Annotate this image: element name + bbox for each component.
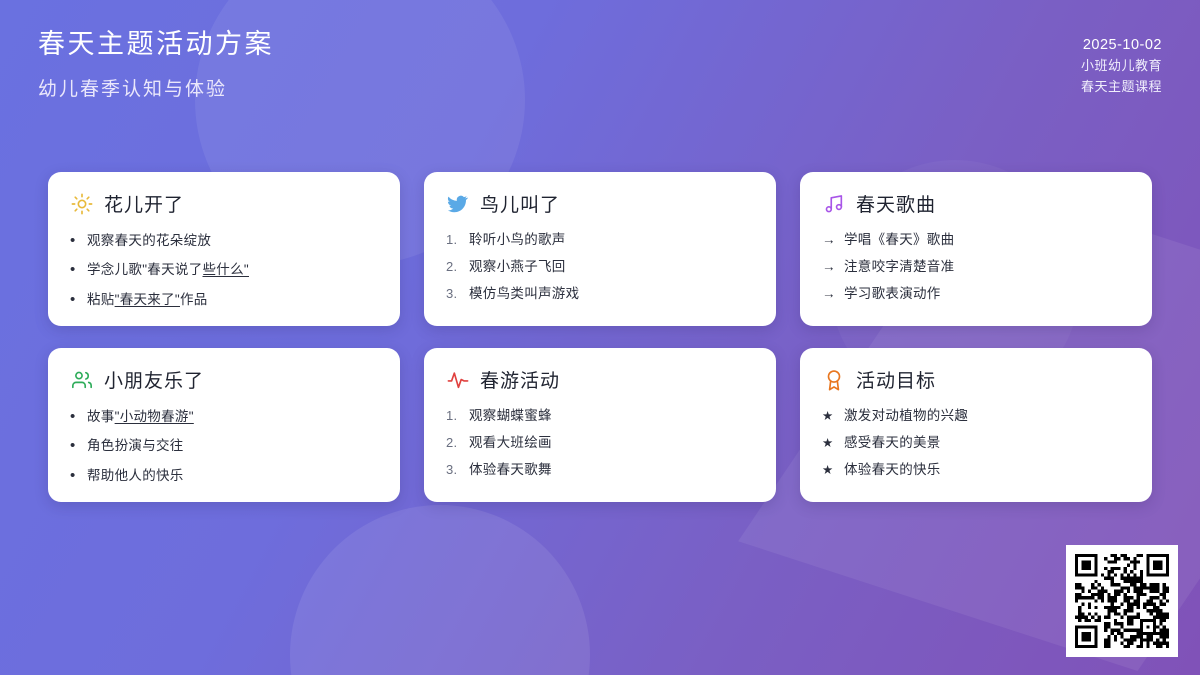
list-item-text: 感受春天的美景 [844, 434, 941, 452]
header-meta: 2025-10-02 小班幼儿教育 春天主题课程 [1081, 28, 1162, 97]
list-item-text: 观看大班绘画 [469, 434, 552, 452]
card-title: 小朋友乐了 [104, 366, 204, 393]
card-item-list: ★激发对动植物的兴趣★感受春天的美景★体验春天的快乐 [822, 407, 1130, 480]
list-marker: • [70, 407, 79, 427]
list-marker: 3. [446, 461, 461, 479]
card-header: 活动目标 [822, 366, 1130, 393]
list-marker: 2. [446, 258, 461, 276]
list-item-text: 聆听小鸟的歌声 [469, 231, 566, 249]
decor-circle-bottom-left [290, 505, 590, 675]
card-3: 春天歌曲→学唱《春天》歌曲→注意咬字清楚音准→学习歌表演动作 [800, 172, 1152, 326]
bird-icon [446, 192, 470, 216]
list-item-text: 学念儿歌"春天说了些什么" [87, 261, 249, 279]
list-item-text: 观察小燕子飞回 [469, 258, 566, 276]
card-2: 鸟儿叫了1.聆听小鸟的歌声2.观察小燕子飞回3.模仿鸟类叫声游戏 [424, 172, 776, 326]
list-marker: 1. [446, 231, 461, 249]
list-item: →学唱《春天》歌曲 [822, 231, 1130, 249]
card-title: 春游活动 [480, 366, 560, 393]
list-marker: ★ [822, 462, 836, 479]
list-marker: → [822, 285, 836, 303]
list-item: ★体验春天的快乐 [822, 461, 1130, 479]
list-item: ★激发对动植物的兴趣 [822, 407, 1130, 425]
award-icon [822, 368, 846, 392]
list-marker: ★ [822, 408, 836, 425]
list-item-text: 注意咬字清楚音准 [844, 258, 954, 276]
list-item-text: 故事"小动物春游" [87, 408, 194, 426]
list-marker: → [822, 231, 836, 249]
list-item: 1.聆听小鸟的歌声 [446, 231, 754, 249]
list-item: •观察春天的花朵绽放 [70, 231, 378, 251]
list-item-text: 粘贴"春天来了"作品 [87, 291, 208, 309]
card-header: 春天歌曲 [822, 190, 1130, 217]
list-item: 3.体验春天歌舞 [446, 461, 754, 479]
list-item-text: 模仿鸟类叫声游戏 [469, 285, 579, 303]
card-grid: 花儿开了•观察春天的花朵绽放•学念儿歌"春天说了些什么"•粘贴"春天来了"作品鸟… [48, 172, 1152, 502]
card-4: 小朋友乐了•故事"小动物春游"•角色扮演与交往•帮助他人的快乐 [48, 348, 400, 502]
list-marker: 1. [446, 407, 461, 425]
list-item-text: 体验春天的快乐 [844, 461, 941, 479]
date-label: 2025-10-02 [1083, 34, 1162, 56]
card-5: 春游活动1.观察蝴蝶蜜蜂2.观看大班绘画3.体验春天歌舞 [424, 348, 776, 502]
card-title: 花儿开了 [104, 190, 184, 217]
list-item-text: 激发对动植物的兴趣 [844, 407, 968, 425]
people-icon [70, 368, 94, 392]
list-marker: • [70, 436, 79, 456]
card-title: 春天歌曲 [856, 190, 936, 217]
card-item-list: 1.聆听小鸟的歌声2.观察小燕子飞回3.模仿鸟类叫声游戏 [446, 231, 754, 304]
card-item-list: 1.观察蝴蝶蜜蜂2.观看大班绘画3.体验春天歌舞 [446, 407, 754, 480]
list-marker: • [70, 466, 79, 486]
list-marker: • [70, 231, 79, 251]
music-note-icon [822, 192, 846, 216]
list-item: 2.观察小燕子飞回 [446, 258, 754, 276]
page-subtitle: 幼儿春季认知与体验 [38, 74, 274, 101]
list-item: 2.观看大班绘画 [446, 434, 754, 452]
list-item-text: 观察蝴蝶蜜蜂 [469, 407, 552, 425]
meta-line-2: 春天主题课程 [1081, 77, 1162, 97]
list-marker: → [822, 258, 836, 276]
card-1: 花儿开了•观察春天的花朵绽放•学念儿歌"春天说了些什么"•粘贴"春天来了"作品 [48, 172, 400, 326]
list-item-text: 体验春天歌舞 [469, 461, 552, 479]
slide-root: 春天主题活动方案 幼儿春季认知与体验 2025-10-02 小班幼儿教育 春天主… [0, 0, 1200, 675]
card-6: 活动目标★激发对动植物的兴趣★感受春天的美景★体验春天的快乐 [800, 348, 1152, 502]
card-header: 花儿开了 [70, 190, 378, 217]
list-item: →学习歌表演动作 [822, 285, 1130, 303]
qr-code-container[interactable] [1066, 545, 1178, 657]
list-item: →注意咬字清楚音准 [822, 258, 1130, 276]
list-item: •故事"小动物春游" [70, 407, 378, 427]
list-item: 1.观察蝴蝶蜜蜂 [446, 407, 754, 425]
card-header: 鸟儿叫了 [446, 190, 754, 217]
list-item-text: 学唱《春天》歌曲 [844, 231, 954, 249]
slide-header: 春天主题活动方案 幼儿春季认知与体验 2025-10-02 小班幼儿教育 春天主… [0, 0, 1200, 140]
page-title: 春天主题活动方案 [38, 28, 274, 60]
list-item-text: 观察春天的花朵绽放 [87, 232, 211, 250]
list-item: •粘贴"春天来了"作品 [70, 290, 378, 310]
list-item-text: 学习歌表演动作 [844, 285, 941, 303]
list-item: 3.模仿鸟类叫声游戏 [446, 285, 754, 303]
card-item-list: →学唱《春天》歌曲→注意咬字清楚音准→学习歌表演动作 [822, 231, 1130, 304]
card-header: 小朋友乐了 [70, 366, 378, 393]
list-marker: • [70, 290, 79, 310]
list-item-text: 帮助他人的快乐 [87, 467, 184, 485]
qr-code[interactable] [1075, 554, 1169, 648]
list-item: ★感受春天的美景 [822, 434, 1130, 452]
list-item-text: 角色扮演与交往 [87, 437, 184, 455]
list-item: •帮助他人的快乐 [70, 466, 378, 486]
list-marker: 2. [446, 434, 461, 452]
card-header: 春游活动 [446, 366, 754, 393]
list-marker: • [70, 260, 79, 280]
list-marker: ★ [822, 435, 836, 452]
meta-line-1: 小班幼儿教育 [1081, 56, 1162, 76]
sun-icon [70, 192, 94, 216]
list-marker: 3. [446, 285, 461, 303]
card-item-list: •故事"小动物春游"•角色扮演与交往•帮助他人的快乐 [70, 407, 378, 486]
card-title: 活动目标 [856, 366, 936, 393]
list-item: •学念儿歌"春天说了些什么" [70, 260, 378, 280]
pulse-icon [446, 368, 470, 392]
card-title: 鸟儿叫了 [480, 190, 560, 217]
list-item: •角色扮演与交往 [70, 436, 378, 456]
card-item-list: •观察春天的花朵绽放•学念儿歌"春天说了些什么"•粘贴"春天来了"作品 [70, 231, 378, 310]
title-block: 春天主题活动方案 幼儿春季认知与体验 [38, 28, 274, 101]
